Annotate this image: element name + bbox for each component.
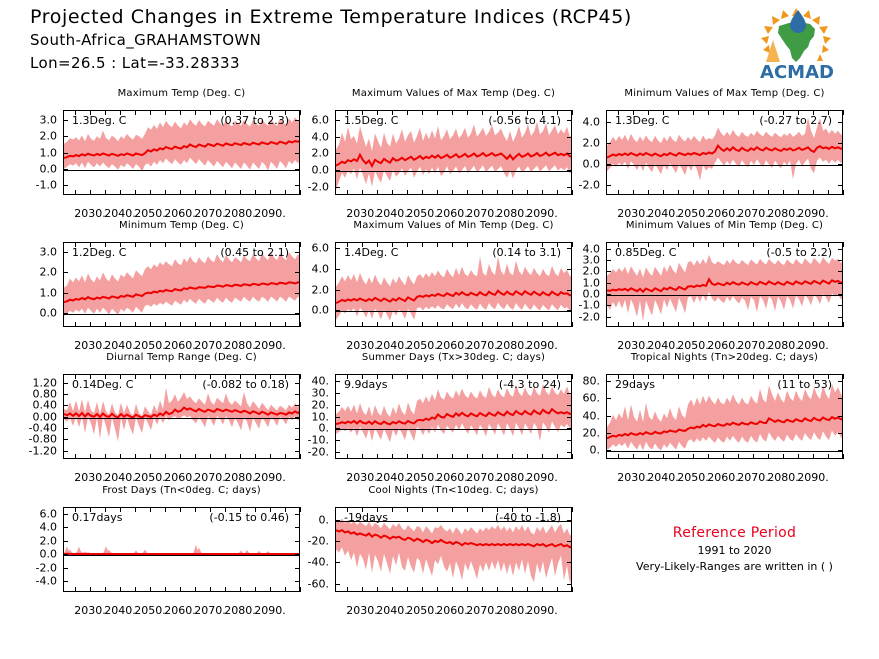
x-tick-mark xyxy=(648,454,649,459)
x-tick-mark xyxy=(90,587,91,592)
x-tick-mark xyxy=(300,322,301,327)
x-tick-label: 2080. xyxy=(496,207,528,220)
y-tick-mark xyxy=(838,305,843,306)
x-tick-mark xyxy=(407,374,408,379)
x-tick-mark xyxy=(210,374,211,379)
x-tick-label: 2030. xyxy=(74,471,106,484)
y-tick-mark xyxy=(63,293,68,294)
x-tick-mark xyxy=(482,322,483,327)
x-tick-mark xyxy=(407,507,408,512)
x-tick-mark xyxy=(738,322,739,327)
x-tick-label: 2040. xyxy=(376,339,408,352)
x-tick-mark xyxy=(557,587,558,592)
x-tick-label: 2070. xyxy=(466,339,498,352)
x-tick-mark xyxy=(150,587,151,592)
x-tick-mark xyxy=(828,190,829,195)
x-tick-mark xyxy=(467,454,468,459)
y-tick-label: -40. xyxy=(277,556,329,569)
x-tick-label: 2050. xyxy=(134,339,166,352)
y-tick-label: 1.0 xyxy=(5,146,57,159)
x-tick-label: 2040. xyxy=(104,339,136,352)
x-tick-mark xyxy=(255,454,256,459)
x-tick-mark xyxy=(422,322,423,327)
x-tick-mark xyxy=(240,454,241,459)
y-tick-mark xyxy=(606,143,611,144)
x-tick-mark xyxy=(843,110,844,115)
x-tick-mark xyxy=(482,110,483,115)
zero-reference-line xyxy=(336,429,571,430)
x-tick-mark xyxy=(120,242,121,247)
y-tick-mark xyxy=(606,122,611,123)
x-tick-mark xyxy=(663,110,664,115)
x-tick-mark xyxy=(165,110,166,115)
x-tick-mark xyxy=(828,322,829,327)
x-tick-mark xyxy=(527,242,528,247)
x-tick-mark xyxy=(180,242,181,247)
y-tick-mark xyxy=(838,260,843,261)
x-tick-mark xyxy=(618,242,619,247)
x-tick-mark xyxy=(618,190,619,195)
page-title: Projected Changes in Extreme Temperature… xyxy=(30,6,632,28)
zero-reference-line xyxy=(64,170,299,171)
x-tick-mark xyxy=(527,374,528,379)
x-tick-mark xyxy=(180,374,181,379)
x-tick-mark xyxy=(813,190,814,195)
x-tick-mark xyxy=(105,190,106,195)
y-tick-mark xyxy=(838,164,843,165)
x-tick-mark xyxy=(75,507,76,512)
x-tick-mark xyxy=(195,374,196,379)
x-tick-mark xyxy=(708,110,709,115)
x-tick-mark xyxy=(120,110,121,115)
x-tick-mark xyxy=(618,374,619,379)
legend-period: 1991 to 2020 xyxy=(590,544,879,557)
x-tick-mark xyxy=(738,110,739,115)
x-tick-mark xyxy=(452,454,453,459)
acmad-logo-graphic: ACMAD xyxy=(742,6,852,82)
y-tick-label: 0.80 xyxy=(5,387,57,400)
x-tick-mark xyxy=(648,190,649,195)
y-tick-mark xyxy=(606,260,611,261)
x-tick-mark xyxy=(347,110,348,115)
y-tick-label: 2.0 xyxy=(5,266,57,279)
x-tick-mark xyxy=(693,242,694,247)
y-tick-label: 2.0 xyxy=(277,283,329,296)
x-tick-mark xyxy=(738,454,739,459)
x-tick-mark xyxy=(90,507,91,512)
x-tick-mark xyxy=(90,110,91,115)
y-tick-mark xyxy=(838,381,843,382)
y-tick-label: 20. xyxy=(548,426,600,439)
x-tick-mark xyxy=(225,322,226,327)
y-tick-mark xyxy=(63,185,68,186)
y-tick-label: 1.20 xyxy=(5,376,57,389)
x-tick-label: 2060. xyxy=(436,207,468,220)
x-tick-mark xyxy=(783,322,784,327)
x-tick-mark xyxy=(392,110,393,115)
y-tick-label: 0.0 xyxy=(277,164,329,177)
x-tick-mark xyxy=(497,242,498,247)
x-tick-mark xyxy=(618,110,619,115)
x-tick-mark xyxy=(828,110,829,115)
x-tick-mark xyxy=(150,190,151,195)
x-tick-label: 2090. xyxy=(254,471,286,484)
x-tick-label: 2070. xyxy=(737,207,769,220)
x-tick-mark xyxy=(828,454,829,459)
x-tick-mark xyxy=(813,242,814,247)
y-tick-mark xyxy=(606,416,611,417)
x-tick-label: 2060. xyxy=(164,207,196,220)
x-tick-mark xyxy=(255,587,256,592)
y-tick-label: 0. xyxy=(277,422,329,435)
x-tick-mark xyxy=(392,507,393,512)
x-tick-label: 2040. xyxy=(647,471,679,484)
x-tick-mark xyxy=(467,587,468,592)
y-tick-mark xyxy=(838,283,843,284)
y-tick-mark xyxy=(63,451,68,452)
x-tick-mark xyxy=(240,242,241,247)
x-tick-mark xyxy=(753,242,754,247)
x-tick-mark xyxy=(75,110,76,115)
y-tick-mark xyxy=(335,440,340,441)
y-tick-mark xyxy=(606,249,611,250)
y-tick-label: -2.0 xyxy=(277,180,329,193)
y-tick-label: -2.0 xyxy=(548,178,600,191)
x-tick-mark xyxy=(240,374,241,379)
x-tick-mark xyxy=(542,454,543,459)
x-tick-mark xyxy=(90,374,91,379)
y-tick-mark xyxy=(838,433,843,434)
y-tick-mark xyxy=(567,562,572,563)
x-tick-mark xyxy=(407,242,408,247)
y-tick-label: -0.40 xyxy=(5,421,57,434)
y-tick-mark xyxy=(838,416,843,417)
x-tick-mark xyxy=(798,110,799,115)
x-tick-mark xyxy=(678,454,679,459)
y-tick-mark xyxy=(63,394,68,395)
x-tick-mark xyxy=(120,507,121,512)
x-tick-label: 2050. xyxy=(134,207,166,220)
x-tick-mark xyxy=(527,110,528,115)
x-tick-mark xyxy=(663,454,664,459)
y-tick-mark xyxy=(838,143,843,144)
x-tick-mark xyxy=(437,507,438,512)
x-tick-mark xyxy=(75,190,76,195)
x-tick-mark xyxy=(753,190,754,195)
y-tick-mark xyxy=(606,398,611,399)
y-tick-mark xyxy=(335,153,340,154)
y-tick-label: 0.0 xyxy=(548,288,600,301)
x-tick-mark xyxy=(467,507,468,512)
x-tick-mark xyxy=(90,322,91,327)
x-tick-mark xyxy=(708,190,709,195)
x-tick-mark xyxy=(708,242,709,247)
y-tick-mark xyxy=(335,248,340,249)
x-tick-label: 2040. xyxy=(376,207,408,220)
y-tick-label: 4.0 xyxy=(548,116,600,129)
x-tick-mark xyxy=(255,242,256,247)
x-tick-mark xyxy=(195,454,196,459)
x-tick-mark xyxy=(783,242,784,247)
x-tick-mark xyxy=(693,190,694,195)
x-tick-mark xyxy=(648,322,649,327)
x-tick-mark xyxy=(195,110,196,115)
x-tick-mark xyxy=(270,507,271,512)
y-tick-label: 1.0 xyxy=(548,276,600,289)
x-tick-label: 2090. xyxy=(526,339,558,352)
x-tick-mark xyxy=(270,110,271,115)
x-tick-mark xyxy=(422,242,423,247)
x-tick-label: 2050. xyxy=(134,604,166,617)
x-tick-label: 2060. xyxy=(436,471,468,484)
x-tick-mark xyxy=(843,190,844,195)
x-tick-label: 2030. xyxy=(346,207,378,220)
x-tick-mark xyxy=(255,110,256,115)
x-tick-mark xyxy=(452,322,453,327)
y-tick-mark xyxy=(606,433,611,434)
y-tick-mark xyxy=(63,313,68,314)
x-tick-label: 2090. xyxy=(254,339,286,352)
y-tick-label: 40. xyxy=(277,375,329,388)
y-tick-mark xyxy=(838,185,843,186)
x-tick-mark xyxy=(542,374,543,379)
y-tick-mark xyxy=(606,271,611,272)
x-tick-mark xyxy=(572,507,573,512)
x-tick-mark xyxy=(663,374,664,379)
x-tick-mark xyxy=(572,587,573,592)
x-tick-mark xyxy=(768,322,769,327)
x-tick-mark xyxy=(120,454,121,459)
x-tick-mark xyxy=(557,110,558,115)
x-tick-mark xyxy=(768,110,769,115)
x-tick-mark xyxy=(75,322,76,327)
plot-area-tropical-nights: 29days(11 to 53) xyxy=(606,374,843,459)
x-tick-mark xyxy=(482,242,483,247)
chart-title-tropical-nights: Tropical Nights (Tn>20deg. C; days) xyxy=(606,352,843,363)
x-tick-label: 2080. xyxy=(767,471,799,484)
x-tick-mark xyxy=(467,190,468,195)
x-tick-mark xyxy=(482,374,483,379)
x-tick-mark xyxy=(843,322,844,327)
y-tick-mark xyxy=(335,187,340,188)
x-tick-label: 2030. xyxy=(346,339,378,352)
water-drop-icon xyxy=(790,10,806,33)
chart-title-minimum-values-of-min-temp: Minimum Values of Min Temp (Deg. C) xyxy=(606,220,843,231)
x-tick-mark xyxy=(255,374,256,379)
y-tick-label: 4.0 xyxy=(277,262,329,275)
x-tick-label: 2080. xyxy=(496,604,528,617)
y-tick-mark xyxy=(567,520,572,521)
x-tick-mark xyxy=(180,110,181,115)
chart-title-minimum-values-of-max-temp: Minimum Values of Max Temp (Deg. C) xyxy=(606,88,843,99)
x-tick-mark xyxy=(753,374,754,379)
x-tick-mark xyxy=(497,454,498,459)
plot-area-maximum-values-of-max-temp: 1.5Deg. C(-0.56 to 4.1) xyxy=(335,110,572,195)
x-tick-label: 2030. xyxy=(346,471,378,484)
chart-title-maximum-temp: Maximum Temp (Deg. C) xyxy=(63,88,300,99)
y-tick-label: 40. xyxy=(548,409,600,422)
x-tick-mark xyxy=(105,110,106,115)
x-tick-mark xyxy=(90,242,91,247)
x-tick-label: 2070. xyxy=(737,471,769,484)
x-tick-label: 2050. xyxy=(406,471,438,484)
x-tick-mark xyxy=(437,110,438,115)
x-tick-label: 2030. xyxy=(346,604,378,617)
x-tick-mark xyxy=(798,454,799,459)
y-tick-mark xyxy=(63,383,68,384)
x-tick-mark xyxy=(783,110,784,115)
x-tick-mark xyxy=(135,587,136,592)
x-tick-mark xyxy=(542,190,543,195)
x-tick-mark xyxy=(362,190,363,195)
x-tick-mark xyxy=(255,507,256,512)
x-tick-mark xyxy=(813,454,814,459)
x-tick-mark xyxy=(813,374,814,379)
x-tick-label: 2050. xyxy=(677,207,709,220)
zero-reference-line xyxy=(607,451,842,452)
y-tick-mark xyxy=(63,153,68,154)
plot-area-summer-days: 9.9days(-4.3 to 24) xyxy=(335,374,572,459)
y-tick-mark xyxy=(335,520,340,521)
x-tick-mark xyxy=(572,110,573,115)
y-tick-mark xyxy=(335,393,340,394)
x-tick-mark xyxy=(225,454,226,459)
x-tick-mark xyxy=(377,190,378,195)
x-tick-label: 2090. xyxy=(797,207,829,220)
x-tick-mark xyxy=(633,322,634,327)
x-tick-label: 2050. xyxy=(406,207,438,220)
zero-reference-line xyxy=(336,311,571,312)
x-tick-label: 2090. xyxy=(526,471,558,484)
stat-range-cool-nights: (-40 to -1.8) xyxy=(495,511,561,524)
y-tick-label: -1.20 xyxy=(5,444,57,457)
y-tick-label: 1.0 xyxy=(5,286,57,299)
y-tick-mark xyxy=(63,554,68,555)
x-tick-label: 2070. xyxy=(466,604,498,617)
x-tick-mark xyxy=(467,242,468,247)
x-tick-mark xyxy=(165,242,166,247)
x-tick-mark xyxy=(165,190,166,195)
y-tick-mark xyxy=(838,398,843,399)
x-tick-mark xyxy=(512,242,513,247)
x-tick-mark xyxy=(482,190,483,195)
x-tick-mark xyxy=(347,587,348,592)
x-tick-mark xyxy=(843,374,844,379)
y-tick-label: 3.0 xyxy=(5,246,57,259)
x-tick-mark xyxy=(783,454,784,459)
zero-reference-line xyxy=(607,295,842,296)
chart-title-diurnal-temp-range: Diurnal Temp Range (Deg. C) xyxy=(63,352,300,363)
x-tick-mark xyxy=(753,110,754,115)
x-tick-mark xyxy=(512,322,513,327)
x-tick-mark xyxy=(240,322,241,327)
y-tick-mark xyxy=(567,405,572,406)
x-tick-mark xyxy=(633,454,634,459)
plot-area-minimum-values-of-max-temp: 1.3Deg. C(-0.27 to 2.7) xyxy=(606,110,843,195)
y-tick-mark xyxy=(63,541,68,542)
x-tick-mark xyxy=(482,454,483,459)
stat-mean-diurnal-temp-range: 0.14Deg. C xyxy=(72,378,133,391)
x-tick-label: 2060. xyxy=(707,207,739,220)
x-tick-label: 2060. xyxy=(436,339,468,352)
x-tick-label: 2070. xyxy=(466,471,498,484)
y-tick-label: 2.0 xyxy=(5,130,57,143)
x-tick-mark xyxy=(255,322,256,327)
x-tick-mark xyxy=(135,110,136,115)
x-tick-mark xyxy=(225,374,226,379)
y-tick-mark xyxy=(335,452,340,453)
x-tick-mark xyxy=(362,242,363,247)
x-tick-mark xyxy=(210,190,211,195)
x-tick-mark xyxy=(843,454,844,459)
x-tick-label: 2030. xyxy=(617,471,649,484)
x-tick-mark xyxy=(225,507,226,512)
x-tick-mark xyxy=(165,587,166,592)
x-tick-mark xyxy=(377,454,378,459)
y-tick-mark xyxy=(838,317,843,318)
y-tick-label: 0.0 xyxy=(5,306,57,319)
x-tick-mark xyxy=(180,190,181,195)
x-tick-mark xyxy=(180,322,181,327)
x-tick-mark xyxy=(512,190,513,195)
y-tick-mark xyxy=(63,272,68,273)
y-tick-label: -2.0 xyxy=(5,561,57,574)
x-tick-mark xyxy=(347,374,348,379)
y-tick-label: 0.40 xyxy=(5,399,57,412)
stat-mean-maximum-values-of-max-temp: 1.5Deg. C xyxy=(344,114,398,127)
x-tick-mark xyxy=(105,587,106,592)
plot-area-maximum-temp: 1.3Deg. C(0.37 to 2.3) xyxy=(63,110,300,195)
x-tick-mark xyxy=(678,374,679,379)
stat-range-minimum-values-of-max-temp: (-0.27 to 2.7) xyxy=(759,114,832,127)
stat-mean-tropical-nights: 29days xyxy=(615,378,655,391)
x-tick-label: 2090. xyxy=(797,339,829,352)
stat-range-diurnal-temp-range: (-0.082 to 0.18) xyxy=(202,378,289,391)
y-tick-mark xyxy=(63,439,68,440)
y-tick-mark xyxy=(567,584,572,585)
y-tick-label: 10. xyxy=(277,410,329,423)
x-tick-mark xyxy=(347,190,348,195)
x-tick-mark xyxy=(240,190,241,195)
x-tick-mark xyxy=(422,507,423,512)
x-tick-label: 2080. xyxy=(496,471,528,484)
x-tick-label: 2090. xyxy=(526,207,558,220)
x-tick-mark xyxy=(377,374,378,379)
x-tick-label: 2050. xyxy=(677,339,709,352)
x-tick-mark xyxy=(270,374,271,379)
x-tick-label: 2090. xyxy=(797,471,829,484)
y-tick-mark xyxy=(606,164,611,165)
y-tick-label: 0. xyxy=(548,444,600,457)
x-tick-mark xyxy=(738,374,739,379)
x-tick-mark xyxy=(377,507,378,512)
x-tick-label: 2060. xyxy=(436,604,468,617)
y-tick-mark xyxy=(335,120,340,121)
x-tick-mark xyxy=(723,374,724,379)
x-tick-mark xyxy=(467,322,468,327)
x-tick-label: 2090. xyxy=(526,604,558,617)
stat-mean-summer-days: 9.9days xyxy=(344,378,387,391)
x-tick-label: 2080. xyxy=(224,207,256,220)
x-tick-mark xyxy=(150,110,151,115)
y-tick-mark xyxy=(606,283,611,284)
plot-area-minimum-values-of-min-temp: 0.85Deg. C(-0.5 to 2.2) xyxy=(606,242,843,327)
x-tick-mark xyxy=(180,454,181,459)
x-tick-mark xyxy=(663,190,664,195)
stat-mean-maximum-values-of-min-temp: 1.4Deg. C xyxy=(344,246,398,259)
x-tick-mark xyxy=(347,242,348,247)
x-tick-mark xyxy=(75,587,76,592)
